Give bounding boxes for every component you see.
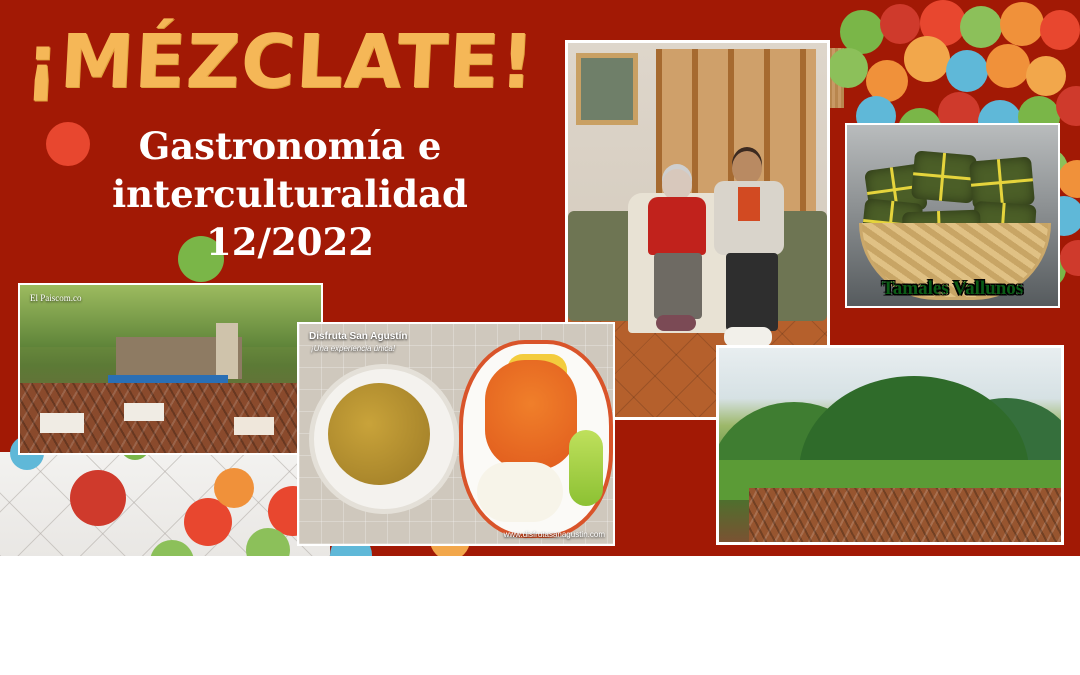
poster-root: ¡MÉZCLATE! Gastronomía e interculturalid… (0, 0, 1080, 675)
town-photo-house-2 (124, 403, 164, 421)
elderly-woman-trousers (654, 253, 702, 319)
subtitle-line-2: interculturalidad (60, 170, 520, 218)
confetti-dot (904, 36, 950, 82)
disfruta-watermark-url: www.disfrutasanagustin.com (504, 530, 605, 539)
living-room-framed-picture (576, 53, 638, 125)
town-photo-house-3 (234, 417, 274, 435)
soup-and-plate-photo: Disfruta San Agustín ¡Una experiencia ún… (297, 322, 615, 546)
subtitle-line-3: 12/2022 (60, 218, 520, 266)
page-title: ¡MÉZCLATE! (18, 24, 542, 100)
page-subtitle: Gastronomía e interculturalidad 12/2022 (60, 122, 520, 266)
avocado-slice (569, 430, 603, 506)
main-dish-plate (459, 340, 613, 538)
confetti-dot (1000, 2, 1044, 46)
elpais-watermark: El Paiscom.co (30, 293, 82, 303)
landscape-town-rooftops (749, 488, 1064, 545)
young-woman-head (732, 151, 762, 185)
confetti-dot (960, 6, 1002, 48)
confetti-dot (70, 470, 126, 526)
soup-bowl (309, 364, 459, 514)
town-photo-church-tower (216, 323, 238, 379)
disfruta-watermark-subtitle: ¡Una experiencia única! (311, 344, 395, 353)
tamales-caption: Tamales Vallunos (847, 278, 1058, 300)
town-photo-house-1 (40, 413, 84, 433)
confetti-dot (880, 4, 920, 44)
sponsors-footer: Organiza Cofinancia RadioLumbre TiERRA D… (0, 556, 1080, 675)
tamales-basket-photo: Tamales Vallunos (845, 123, 1060, 308)
confetti-dot (946, 50, 988, 92)
red-banner: ¡MÉZCLATE! Gastronomía e interculturalid… (0, 0, 1080, 556)
confetti-dot (1040, 10, 1080, 50)
valley-town-landscape-photo (716, 345, 1064, 545)
soup-broth (328, 383, 430, 485)
young-woman-leggings (726, 253, 778, 331)
chicken-with-salsa (485, 360, 577, 470)
disfruta-watermark-title: Disfruta San Agustín (309, 331, 408, 342)
young-woman-sneakers (724, 327, 772, 347)
town-aerial-photo: El Paiscom.co (18, 283, 323, 455)
tamal-2 (911, 150, 977, 203)
subtitle-line-1: Gastronomía e (60, 122, 520, 170)
elderly-woman-figure (640, 169, 714, 339)
elderly-woman-red-cardigan (648, 197, 706, 255)
elderly-woman-slippers (656, 315, 696, 331)
white-rice (477, 462, 563, 522)
confetti-dot (828, 48, 868, 88)
confetti-dot (214, 468, 254, 508)
young-woman-figure (708, 151, 792, 359)
confetti-dot (1026, 56, 1066, 96)
confetti-dot (986, 44, 1030, 88)
young-woman-shirt (738, 187, 760, 221)
